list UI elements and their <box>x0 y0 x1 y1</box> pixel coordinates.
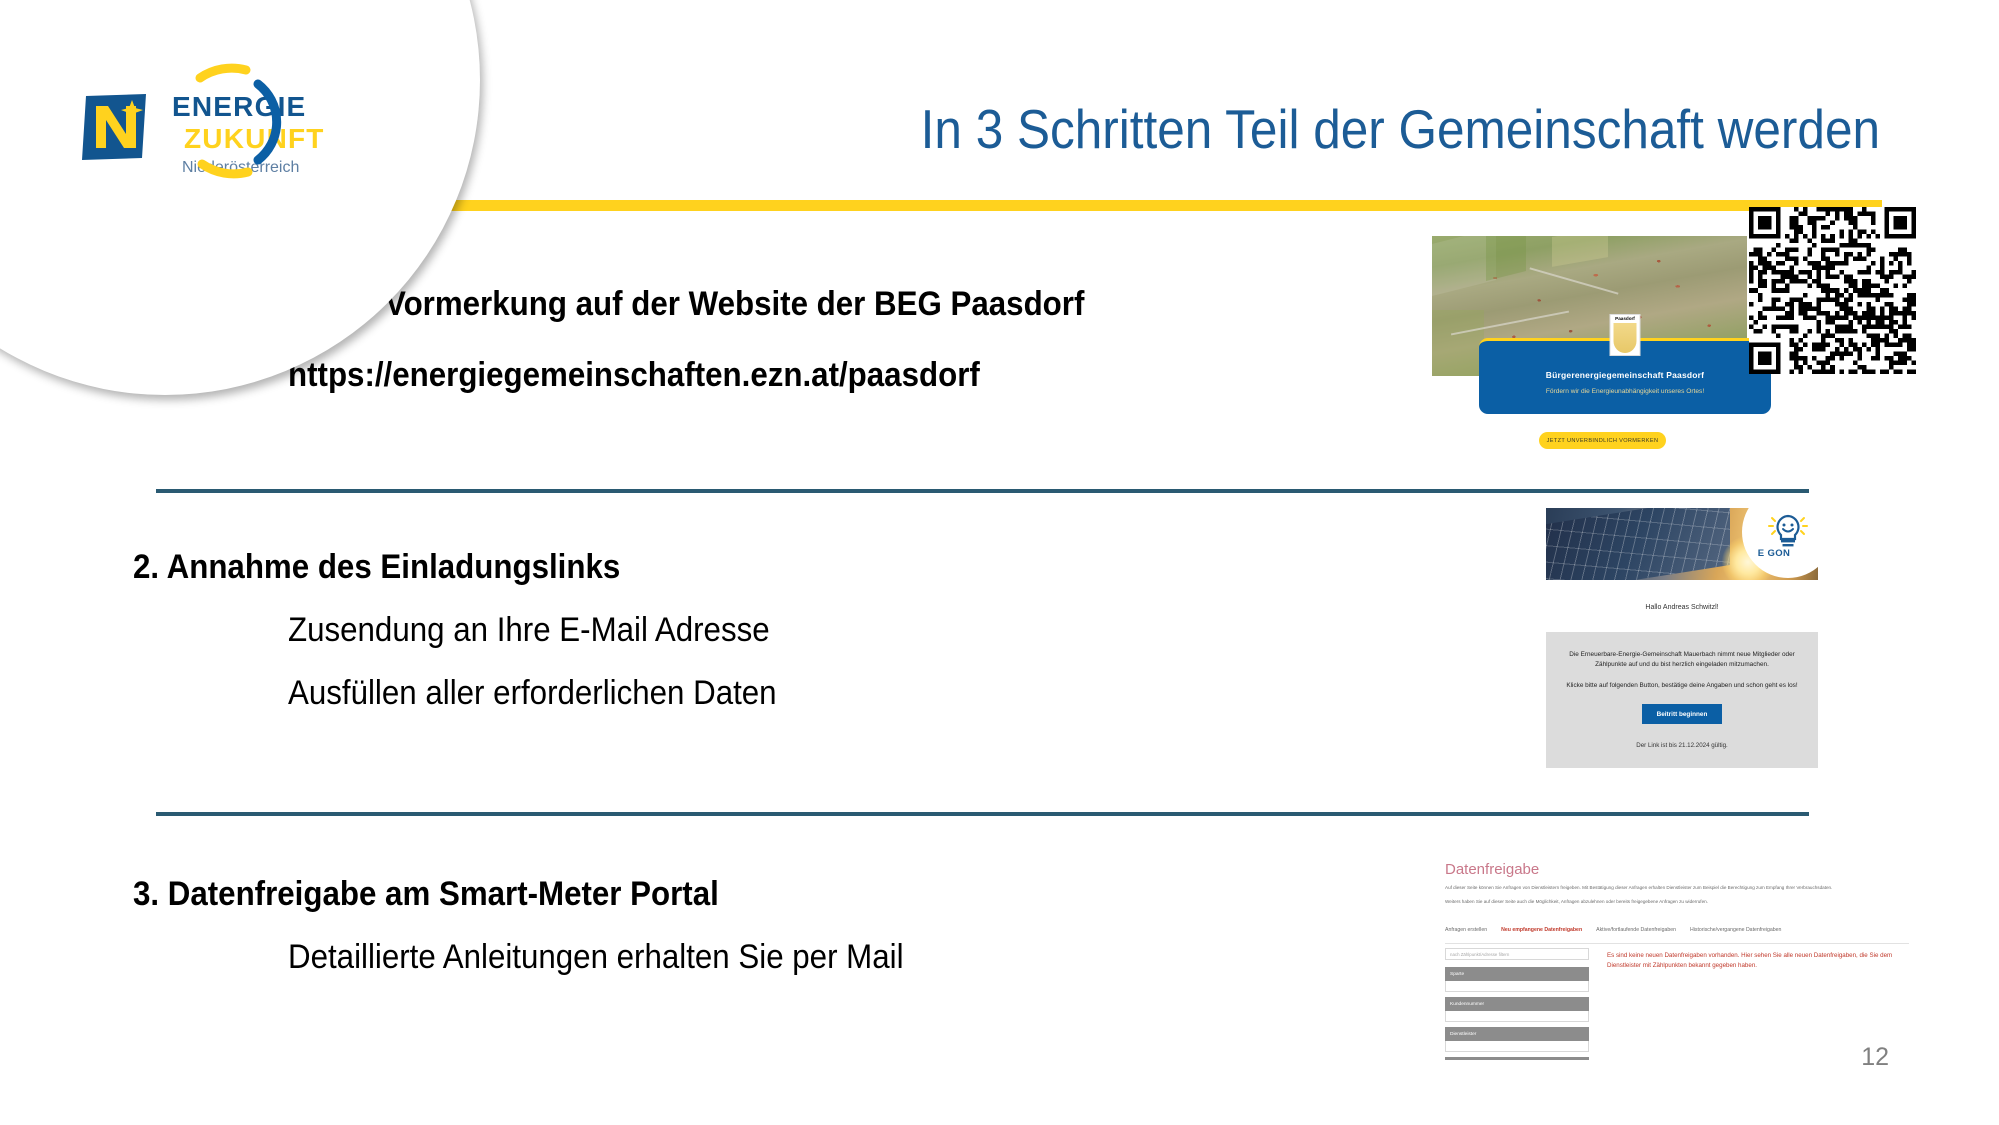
email-greeting: Hallo Andreas Schwitzl! <box>1546 604 1818 611</box>
portal-field-box[interactable] <box>1445 1011 1589 1022</box>
step-1-url[interactable]: https://energiegemeinschaften.ezn.at/paa… <box>288 356 1097 395</box>
step-2: 2. Annahme des Einladungslinks Zusendung… <box>133 548 819 713</box>
email-body-panel: Die Erneuerbare-Energie-Gemeinschaft Mau… <box>1546 632 1818 768</box>
portal-field-kundennummer[interactable]: Kundennummer <box>1445 997 1589 1022</box>
portal-page-title: Datenfreigabe <box>1445 861 1539 878</box>
portal-intro-1: Auf dieser Seite können Sie Anfragen von… <box>1445 885 1909 890</box>
svg-text:ZUKUNFT: ZUKUNFT <box>184 123 325 154</box>
page-number: 12 <box>1861 1043 1889 1072</box>
portal-field-label: Dienstleister <box>1445 1027 1589 1041</box>
n-badge-icon <box>82 94 146 160</box>
step-2-subline-2: Ausfüllen aller erforderlichen Daten <box>288 674 777 713</box>
email-link-expiry: Der Link ist bis 21.12.2024 gültig. <box>1546 742 1818 749</box>
crest-label: Paasdorf <box>1611 316 1640 321</box>
email-join-button[interactable]: Beitritt beginnen <box>1642 704 1722 724</box>
portal-tab-anfragen-erstellen[interactable]: Anfragen erstellen <box>1445 925 1487 933</box>
email-paragraph-1: Die Erneuerbare-Energie-Gemeinschaft Mau… <box>1560 650 1804 670</box>
thumbnail-smartmeter-portal[interactable]: Datenfreigabe Auf dieser Seite können Si… <box>1437 855 1917 1060</box>
qr-code[interactable] <box>1749 207 1916 374</box>
field-patch <box>1432 310 1484 376</box>
portal-filter-input[interactable]: nach Zählpunkt/Adresse filtern <box>1445 948 1589 960</box>
portal-tab-historische[interactable]: Historische/vergangene Datenfreigaben <box>1690 925 1781 933</box>
portal-empty-state-message: Es sind keine neuen Datenfreigaben vorha… <box>1607 951 1911 970</box>
step-3: 3. Datenfreigabe am Smart-Meter Portal D… <box>133 875 957 977</box>
email-hero-image: E GON <box>1546 508 1818 580</box>
step-3-subline-1: Detaillierte Anleitungen erhalten Sie pe… <box>288 938 904 977</box>
egon-brand-label: E GON <box>1742 548 1806 559</box>
email-paragraph-2: Klicke bitte auf folgenden Button, bestä… <box>1560 682 1804 689</box>
svg-text:ENERGIE: ENERGIE <box>172 91 306 122</box>
thumbnail-invitation-email[interactable]: E GON Hallo Andreas Schwitzl! Die Erneue… <box>1546 508 1818 778</box>
portal-field-dienstleister[interactable]: Dienstleister <box>1445 1027 1589 1052</box>
page-title: In 3 Schritten Teil der Gemeinschaft wer… <box>566 100 1880 159</box>
website-cta-button[interactable]: JETZT UNVERBINDLICH VORMERKEN <box>1539 432 1666 449</box>
section-divider-2 <box>156 812 1809 816</box>
portal-field-label: Sparte <box>1445 967 1589 981</box>
step-3-heading: 3. Datenfreigabe am Smart-Meter Portal <box>133 875 891 914</box>
website-banner-title: Bürgerenergiegemeinschaft Paasdorf <box>1479 370 1771 380</box>
portal-field-datenkategorie[interactable]: Datenkategorie <box>1445 1057 1589 1060</box>
paasdorf-coat-of-arms: Paasdorf <box>1610 314 1641 356</box>
website-banner-subtitle: Fördern wir die Energieunabhängigkeit un… <box>1479 388 1771 395</box>
portal-field-sparte[interactable]: Sparte <box>1445 967 1589 992</box>
portal-field-label: Datenkategorie <box>1445 1057 1589 1060</box>
portal-field-box[interactable] <box>1445 1041 1589 1052</box>
lightbulb-icon <box>1762 512 1814 552</box>
portal-intro-2: Weiters haben Sie auf dieser Seite auch … <box>1445 899 1909 904</box>
website-hero-banner: Paasdorf Bürgerenergiegemeinschaft Paasd… <box>1479 338 1771 414</box>
portal-tab-neu-empfangene[interactable]: Neu empfangene Datenfreigaben <box>1501 925 1582 933</box>
step-2-heading: 2. Annahme des Einladungslinks <box>133 548 764 587</box>
crest-shield-shape <box>1614 323 1637 353</box>
slide-canvas: ENERGIE ZUKUNFT Niederösterreich In 3 Sc… <box>0 0 1999 1125</box>
portal-tab-aktive-fortlaufende[interactable]: Aktive/fortlaufende Datenfreigaben <box>1596 925 1676 933</box>
section-divider-1 <box>156 489 1809 493</box>
energie-zukunft-logo: ENERGIE ZUKUNFT Niederösterreich <box>78 42 378 202</box>
portal-field-label: Kundennummer <box>1445 997 1589 1011</box>
portal-field-box[interactable] <box>1445 981 1589 992</box>
step-2-subline-1: Zusendung an Ihre E-Mail Adresse <box>288 611 777 650</box>
portal-tab-bar: Anfragen erstellen Neu empfangene Datenf… <box>1445 925 1909 944</box>
solar-panel-array <box>1546 508 1730 580</box>
title-underline-bar <box>358 200 1882 211</box>
